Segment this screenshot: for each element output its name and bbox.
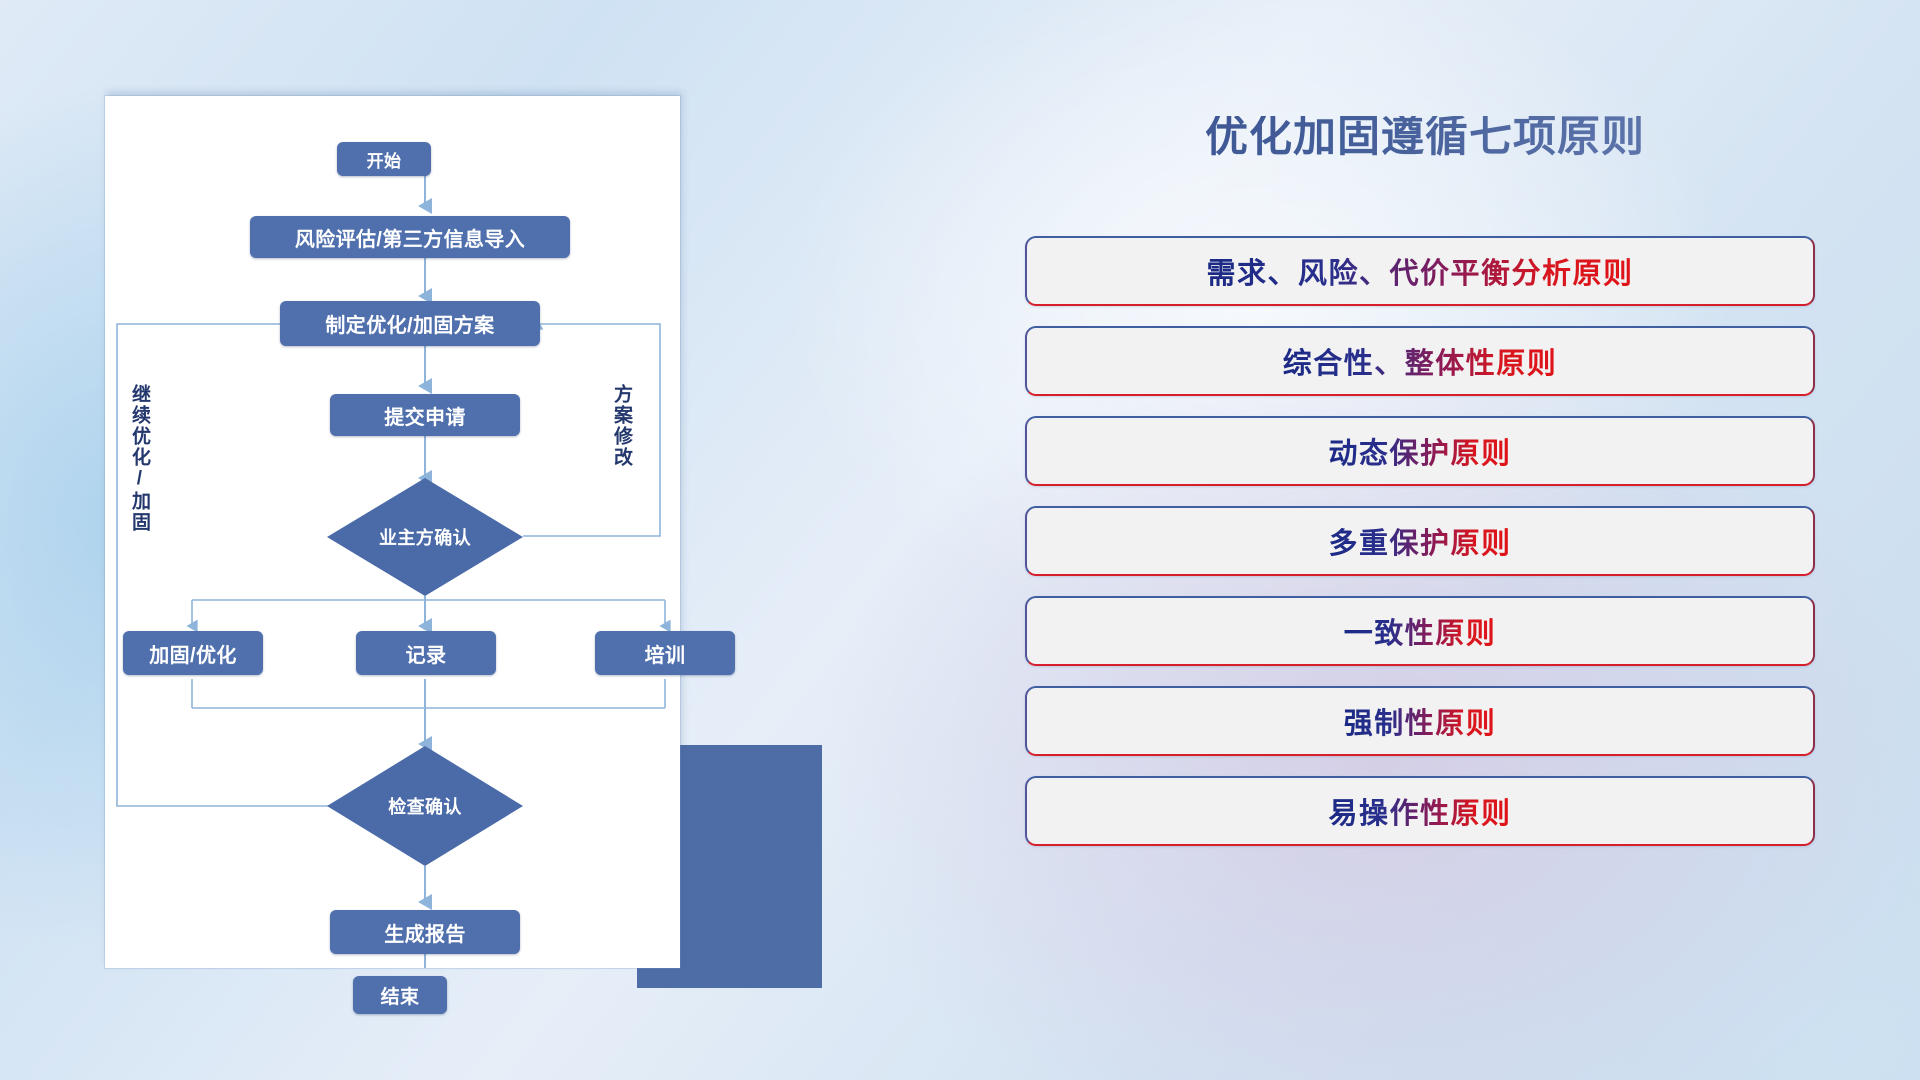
flowchart-card: 开始 风险评估/第三方信息导入 制定优化/加固方案 提交申请 业主方确认 加固/… — [105, 96, 680, 968]
principle-card-1-label: 需求、风险、代价平衡分析原则 — [1206, 250, 1633, 292]
principle-card-2-label: 综合性、整体性原则 — [1283, 340, 1558, 382]
slide-canvas: 开始 风险评估/第三方信息导入 制定优化/加固方案 提交申请 业主方确认 加固/… — [0, 0, 1920, 1080]
principle-card-5[interactable]: 一致性原则 — [1025, 596, 1815, 666]
principle-card-5-label: 一致性原则 — [1344, 610, 1497, 652]
flow-node-reinforce[interactable]: 加固/优化 — [123, 631, 263, 675]
flow-node-submit-application-label: 提交申请 — [384, 401, 466, 430]
flow-node-plan[interactable]: 制定优化/加固方案 — [280, 301, 540, 346]
flow-node-check-confirm-label: 检查确认 — [388, 793, 462, 819]
flow-node-generate-report-label: 生成报告 — [384, 918, 466, 947]
flow-node-owner-confirm[interactable]: 业主方确认 — [327, 478, 523, 596]
principle-card-4[interactable]: 多重保护原则 — [1025, 506, 1815, 576]
principle-card-3-label: 动态保护原则 — [1328, 430, 1511, 472]
page-title: 优化加固遵循七项原则 — [1020, 116, 1830, 159]
flow-node-training[interactable]: 培训 — [595, 631, 735, 675]
principle-card-1[interactable]: 需求、风险、代价平衡分析原则 — [1025, 236, 1815, 306]
principle-card-3[interactable]: 动态保护原则 — [1025, 416, 1815, 486]
flow-node-training-label: 培训 — [645, 639, 686, 668]
flow-node-record-label: 记录 — [406, 639, 447, 668]
flow-node-reinforce-label: 加固/优化 — [149, 639, 237, 668]
flow-node-record[interactable]: 记录 — [356, 631, 496, 675]
principle-card-6[interactable]: 强制性原则 — [1025, 686, 1815, 756]
principles-panel: 优化加固遵循七项原则 需求、风险、代价平衡分析原则 综合性、整体性原则 动态保护… — [1020, 96, 1830, 996]
flow-node-end-label: 结束 — [381, 982, 420, 1009]
flow-node-owner-confirm-label: 业主方确认 — [379, 524, 471, 550]
principle-card-2[interactable]: 综合性、整体性原则 — [1025, 326, 1815, 396]
flow-node-plan-label: 制定优化/加固方案 — [325, 309, 494, 338]
principle-card-7[interactable]: 易操作性原则 — [1025, 776, 1815, 846]
flow-node-risk-assessment-label: 风险评估/第三方信息导入 — [295, 223, 525, 252]
principle-card-7-label: 易操作性原则 — [1328, 790, 1511, 832]
flow-node-generate-report[interactable]: 生成报告 — [330, 910, 520, 954]
flow-node-end[interactable]: 结束 — [353, 976, 447, 1014]
flow-label-plan-revision: 方案修改 — [611, 384, 631, 499]
flow-node-risk-assessment[interactable]: 风险评估/第三方信息导入 — [250, 216, 570, 258]
principles-list: 需求、风险、代价平衡分析原则 综合性、整体性原则 动态保护原则 多重保护原则 一… — [1025, 236, 1815, 866]
flow-node-submit-application[interactable]: 提交申请 — [330, 394, 520, 436]
flow-node-start[interactable]: 开始 — [337, 142, 431, 176]
principle-card-4-label: 多重保护原则 — [1328, 520, 1511, 562]
flow-node-check-confirm[interactable]: 检查确认 — [327, 746, 523, 866]
principle-card-6-label: 强制性原则 — [1344, 700, 1497, 742]
flow-label-continue-optimize: 继续优化/加固 — [129, 384, 149, 544]
flow-node-start-label: 开始 — [367, 147, 402, 172]
